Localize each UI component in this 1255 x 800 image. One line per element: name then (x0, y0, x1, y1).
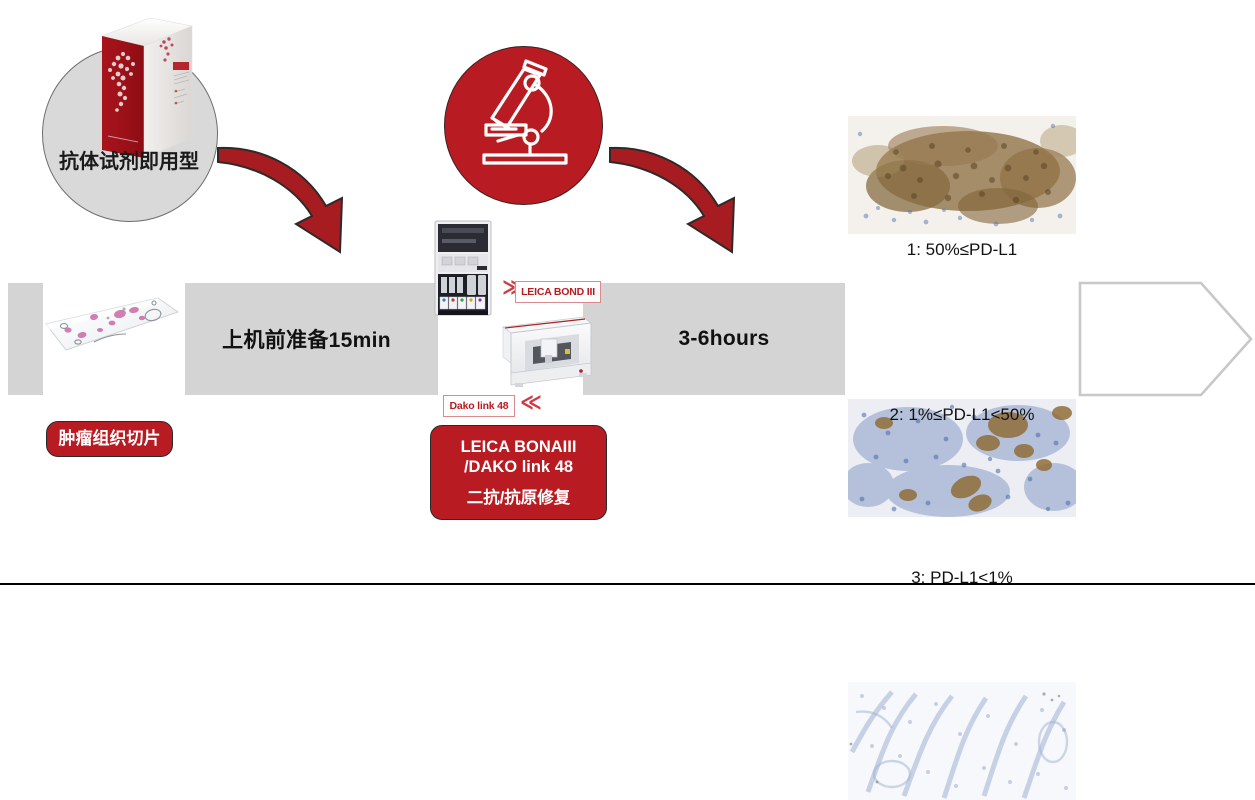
dako-link-48-stainer-icon (495, 311, 595, 393)
chevron-double-left-icon: ≪ (520, 392, 542, 413)
tissue-slide-icon (42, 290, 182, 370)
next-step-chevron (1078, 281, 1253, 397)
dako-link-48-tag: Dako link 48 (443, 395, 515, 417)
band-segment-specimen (8, 283, 43, 395)
instrument-badge-line2: /DAKO link 48 (464, 457, 573, 477)
ihc-tile-high-caption: 1: 50%≤PD-L1 (848, 240, 1076, 260)
ihc-tile-mid-caption: 2: 1%≤PD-L1<50% (848, 405, 1076, 425)
dako-link-48-tag-label: Dako link 48 (450, 400, 509, 412)
instrument-badge-line1: LEICA BONAIII (461, 437, 577, 457)
antibody-reagent-box-icon (88, 14, 200, 164)
curved-arrow-1 (200, 128, 375, 273)
leica-bond-iii-tag: LEICA BOND III (515, 281, 601, 303)
leica-bond-iii-stainer-icon (433, 219, 493, 317)
leica-bond-iii-tag-label: LEICA BOND III (521, 286, 595, 298)
instrument-badge: LEICA BONAIII /DAKO link 48 二抗/抗原修复 (430, 425, 607, 520)
antibody-reagent-label: 抗体试剂即用型 (42, 145, 216, 174)
microscope-icon (474, 55, 579, 173)
bottom-divider (0, 583, 1255, 585)
band-run-label: 3-6hours (603, 283, 845, 395)
specimen-badge: 肿瘤组织切片 (46, 421, 173, 457)
ihc-tile-low (848, 682, 1076, 800)
instrument-badge-line3: 二抗/抗原修复 (467, 488, 571, 508)
band-prep-label: 上机前准备15min (185, 283, 428, 395)
ihc-tile-low-caption: 3: PD-L1<1% (848, 568, 1076, 588)
specimen-badge-label: 肿瘤组织切片 (59, 429, 161, 450)
ihc-tile-high (848, 116, 1076, 234)
curved-arrow-2 (600, 128, 775, 273)
